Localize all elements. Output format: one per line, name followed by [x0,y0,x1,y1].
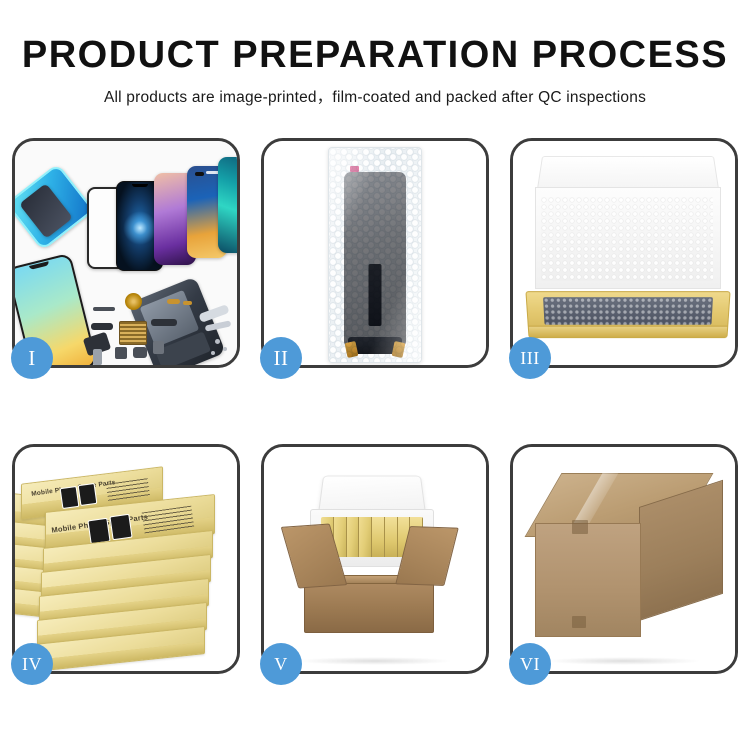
foam-sheet-graphic [541,197,713,281]
carton-flap-tab-graphic [572,520,588,534]
gold-clip-part [183,301,192,305]
small-module-part [115,347,127,359]
process-step-grid: I II [12,138,738,686]
step-badge-6: VI [509,643,551,685]
step-1-illustration [15,141,237,365]
box-stack-graphic: Mobile Phone Spare Parts Mobile Phone Sp… [15,447,237,671]
box-product-image [78,483,98,506]
lcd-screen-graphic [344,172,406,348]
process-step-card-3[interactable]: III [510,138,738,368]
camera-module-part [153,341,164,354]
yellow-box-unit [347,517,360,557]
step-badge-4: IV [11,643,53,685]
step-badge-1: I [11,337,53,379]
process-step-card-2[interactable]: II [261,138,489,368]
page-title: PRODUCT PREPARATION PROCESS [0,0,750,74]
step-6-illustration [513,447,735,671]
drop-shadow [297,657,452,665]
process-step-card-5[interactable]: V [261,444,489,674]
yellow-box-unit [385,517,398,557]
tray-front-lip-graphic [529,326,728,337]
step-badge-3: III [509,337,551,379]
yellow-box-unit [359,517,372,557]
step-badge-5: V [260,643,302,685]
bubble-wrapped-contents-graphic [543,297,713,325]
screw-part [211,351,215,355]
yellow-box-unit [372,517,385,557]
step-5-illustration [264,447,486,671]
carton-flap-tab-graphic [572,616,586,628]
sim-tray-part [93,349,102,365]
step-3-illustration [513,141,735,365]
carton-body-graphic [304,579,434,633]
gold-contact-part [167,299,180,304]
header: PRODUCT PREPARATION PROCESS All products… [0,0,750,106]
earpiece-mesh-part [93,307,115,311]
process-step-card-4[interactable]: Mobile Phone Spare Parts Mobile Phone Sp… [12,444,240,674]
antenna-flex-part [151,319,177,326]
step-4-illustration: Mobile Phone Spare Parts Mobile Phone Sp… [15,447,237,671]
box-product-image [109,514,132,541]
process-step-card-1[interactable]: I [12,138,240,368]
drop-shadow [546,657,701,665]
notch-graphic [132,184,148,187]
wallpaper-glow-graphic [123,211,157,245]
qc-sticker-graphic [350,166,359,172]
vibration-motor-part [125,293,142,310]
bubble-wrap-bag-graphic [328,147,422,363]
product-preparation-infographic: PRODUCT PREPARATION PROCESS All products… [0,0,750,750]
punch-hole-camera-graphic [195,172,204,176]
screw-part [215,339,220,344]
speaker-part [133,347,147,358]
page-subtitle: All products are image-printed，film-coat… [0,74,750,106]
carton-front-face-graphic [535,523,641,637]
step-2-illustration [264,141,486,365]
box-product-image [60,486,80,509]
kraft-tray-graphic [525,291,730,338]
process-step-card-6[interactable]: VI [510,444,738,674]
phone-lineup-graphic [15,141,237,365]
phone-teal-graphic [218,157,237,253]
flex-cable-graphic [369,264,382,326]
step-badge-2: II [260,337,302,379]
flex-cable-part [91,323,113,330]
gold-tab-right-graphic [392,341,406,358]
notch-graphic [29,261,49,270]
connector-grid-part [119,321,147,345]
screw-part [223,347,227,351]
